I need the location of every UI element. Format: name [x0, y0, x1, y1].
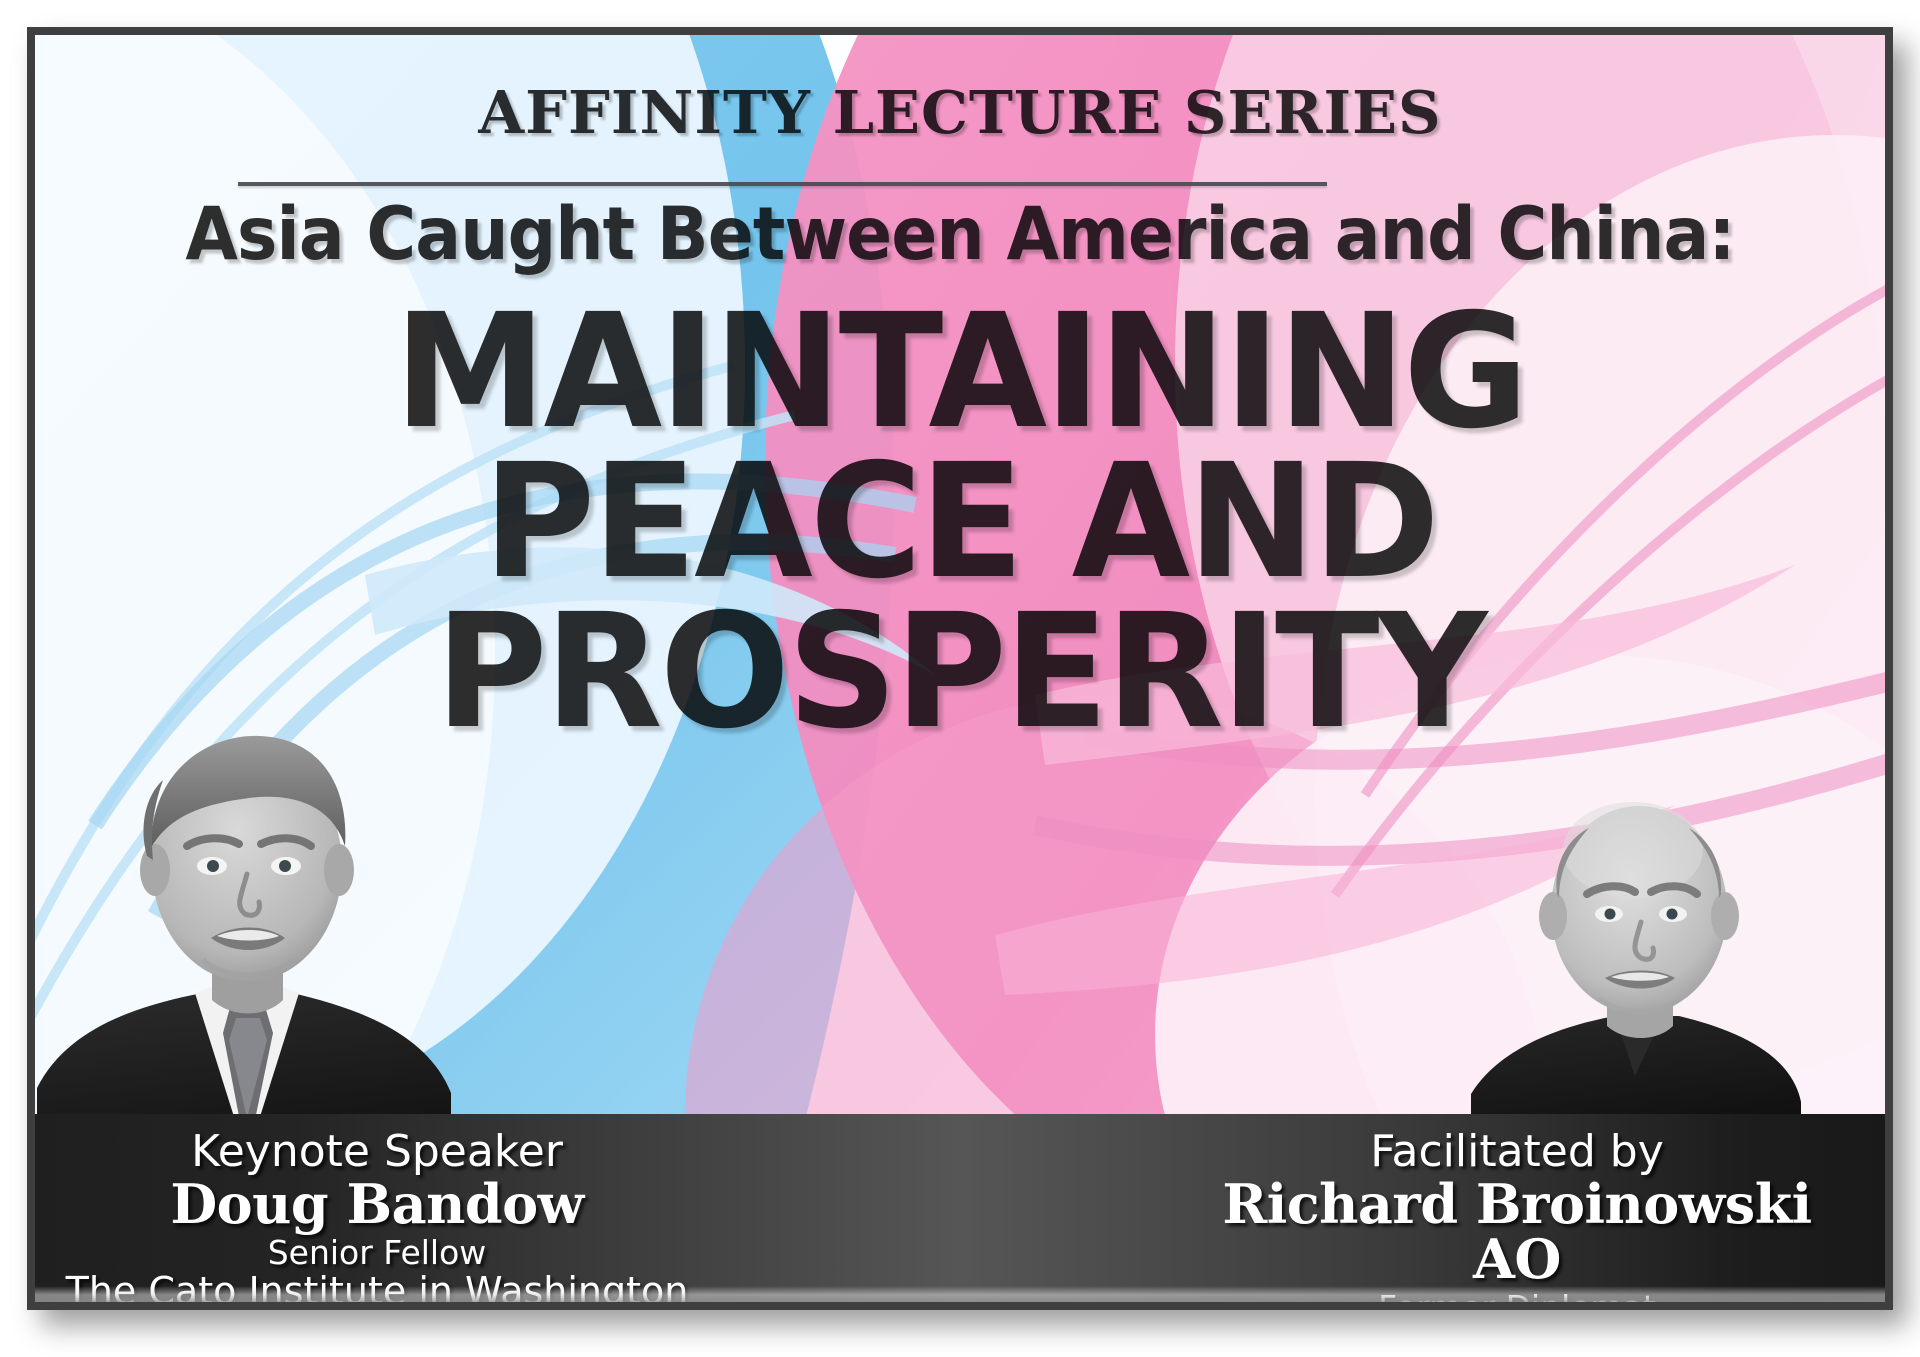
poster-frame: AFFINITY LECTURE SERIES Asia Caught Betw… — [27, 27, 1893, 1310]
speaker-bar: Keynote Speaker Doug Bandow Senior Fello… — [35, 1114, 1885, 1302]
facilitator-role-label: Facilitated by — [1177, 1130, 1857, 1175]
poster-content: AFFINITY LECTURE SERIES Asia Caught Betw… — [35, 35, 1885, 1302]
poster-headline: MAINTAINING PEACE AND PROSPERITY — [63, 297, 1858, 747]
poster-root: AFFINITY LECTURE SERIES Asia Caught Betw… — [0, 0, 1920, 1357]
portrait-doug-bandow — [35, 688, 457, 1158]
keynote-speaker-org: The Cato Institute in Washington — [57, 1272, 697, 1302]
header-divider-rule — [238, 182, 1327, 186]
lecture-series-kicker: AFFINITY LECTURE SERIES — [35, 83, 1885, 142]
poster-canvas: AFFINITY LECTURE SERIES Asia Caught Betw… — [35, 35, 1885, 1302]
portrait-richard-broinowski — [1465, 758, 1805, 1158]
facilitator-title: Former Diplomat — [1177, 1291, 1857, 1302]
facilitator-block: Facilitated by Richard Broinowski AO For… — [1177, 1130, 1857, 1302]
keynote-role-label: Keynote Speaker — [57, 1130, 697, 1175]
headline-line-1: MAINTAINING — [63, 297, 1858, 447]
facilitator-name: Richard Broinowski AO — [1177, 1177, 1857, 1287]
keynote-speaker-block: Keynote Speaker Doug Bandow Senior Fello… — [57, 1130, 697, 1302]
keynote-speaker-title: Senior Fellow — [57, 1236, 697, 1270]
poster-subtitle: Asia Caught Between America and China: — [100, 197, 1821, 274]
portrait-doug-bandow-image — [35, 688, 457, 1158]
keynote-speaker-name: Doug Bandow — [57, 1177, 697, 1232]
portrait-richard-broinowski-image — [1465, 758, 1805, 1158]
headline-line-2: PEACE AND — [63, 447, 1858, 597]
